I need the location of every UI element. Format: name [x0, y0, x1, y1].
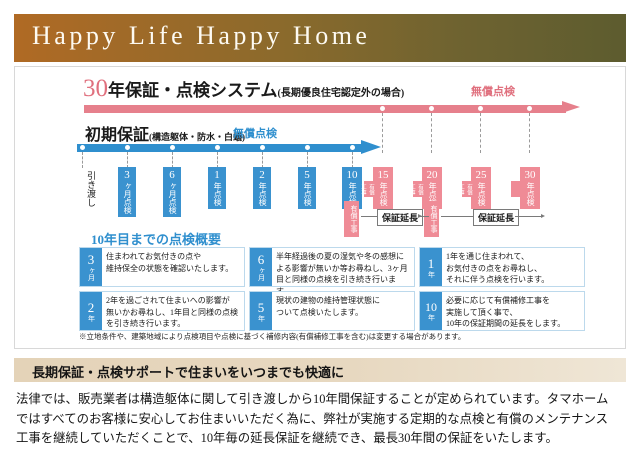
summary-cell-10y: 10 年 必要に応じて有償補修工事を 実施して頂く事で、 10年の保証期間の延長…: [419, 291, 585, 331]
paid-work-marker-30: [511, 181, 522, 197]
summary-text-3m: 住まわれてお気付きの点や 維持保全の状態を確認いたします。: [102, 248, 244, 286]
milestone-unit: 年点検: [477, 182, 485, 206]
footer-banner: 長期保証・点検サポートで住まいをいつまでも快適に: [14, 358, 626, 382]
summary-key-5y: 5 年: [250, 292, 272, 330]
tick-3m: [127, 152, 128, 168]
milestone-tag-5y[interactable]: 5 年点検: [298, 167, 316, 209]
summary-text-1y: 1年を通じ住まわれて、 お気付きの点をお尋ねし、 それに伴う点検を行います。: [442, 248, 584, 286]
footer-line-2: ではすべてのお客様に安心してお住まいいただく為に、弊社が実施する定期的な点検と有…: [16, 410, 626, 430]
summary-key-unit: ヶ月: [88, 267, 95, 281]
milestone-tag-6m[interactable]: 6 ヶ月点検: [163, 167, 181, 217]
summary-key-num: 2: [88, 301, 95, 314]
handover-label: 引き渡し: [85, 171, 98, 215]
system-title-number: 30: [83, 75, 108, 102]
paid-work-marker-20: 有償工事: [413, 181, 424, 197]
tick-30: [529, 113, 530, 153]
tick-handover: [82, 152, 83, 168]
footer-body: 法律では、販売業者は構造躯体に関して引き渡しから10年間保証することが定められて…: [16, 390, 626, 449]
footer-line-3: 工事を継続していただくことで、10年毎の延長保証を継続でき、最長30年間の保証を…: [16, 429, 626, 449]
summary-cell-6m: 6 ヶ月 半年経過後の夏の湿気や冬の感想に よる影響が無いか等お尋ねし、3ヶ月 …: [249, 247, 415, 287]
summary-text-6m: 半年経過後の夏の湿気や冬の感想に よる影響が無いか等お尋ねし、3ヶ月 目と同様の…: [272, 248, 414, 286]
milestone-tag-25y[interactable]: 25 年点検: [471, 167, 491, 209]
footer-banner-title: 長期保証・点検サポートで住まいをいつまでも快適に: [32, 362, 344, 381]
milestone-unit: 年点検: [303, 182, 311, 206]
pink-node-30: [527, 106, 532, 111]
summary-key-unit: 年: [428, 271, 435, 278]
summary-key-1y: 1 年: [420, 248, 442, 286]
milestone-unit: 年点検: [258, 182, 266, 206]
paid-work-marker-15: 有償工事: [364, 181, 375, 197]
system-title: 30年保証・点検システム(長期優良住宅認定外の場合): [83, 75, 404, 103]
milestone-num: 6: [163, 170, 181, 181]
milestone-tag-3m[interactable]: 3 ヶ月点検: [118, 167, 136, 217]
summary-key-num: 10: [425, 301, 437, 313]
milestone-tag-30y[interactable]: 30 年点検: [520, 167, 540, 209]
pink-track-label: 無償点検: [471, 83, 515, 99]
header-banner: Happy Life Happy Home: [14, 14, 626, 62]
pink-arrow-head-icon: [562, 101, 580, 113]
ext-line-left-1: [361, 216, 377, 217]
milestone-num: 1: [208, 170, 226, 181]
system-title-main: 年保証・点検システム: [108, 81, 278, 100]
summary-cell-5y: 5 年 現状の建物の維持管理状態に ついて点検いたします。: [249, 291, 415, 331]
pink-timeline-arrow: [84, 103, 584, 115]
blue-node-1y: [215, 145, 220, 150]
milestone-unit: 年点検: [213, 182, 221, 206]
summary-cell-2y: 2 年 2年を過ごされて住まいへの影響が 無いかお尋ねし、1年目と同様の点検 を…: [79, 291, 245, 331]
summary-key-num: 5: [258, 301, 265, 314]
summary-key-3m: 3 ヶ月: [80, 248, 102, 286]
warranty-extension-box-1[interactable]: 保証延長: [377, 209, 423, 226]
blue-timeline-bar: [77, 144, 365, 152]
summary-cell-1y: 1 年 1年を通じ住まわれて、 お気付きの点をお尋ねし、 それに伴う点検を行いま…: [419, 247, 585, 287]
milestone-num: 25: [471, 170, 491, 181]
milestone-unit: ヶ月点検: [168, 182, 176, 214]
tick-1y: [217, 152, 218, 168]
milestone-num: 30: [520, 170, 540, 181]
summary-key-10y: 10 年: [420, 292, 442, 330]
milestone-unit: ヶ月点検: [123, 182, 131, 214]
summary-key-unit: ヶ月: [258, 267, 265, 281]
ext-line-right-2: [515, 216, 543, 217]
milestone-num: 3: [118, 170, 136, 181]
summary-key-unit: 年: [258, 315, 265, 322]
blue-track-label: 無償点検: [233, 125, 277, 141]
diagram-note: ※立地条件や、建築地域により点検項目や点検に基づく補修内容(有償補修工事を含む)…: [79, 331, 465, 342]
tick-20: [431, 113, 432, 153]
summary-key-2y: 2 年: [80, 292, 102, 330]
summary-key-num: 1: [428, 257, 435, 270]
paid-work-block-20y[interactable]: 有償工事: [424, 201, 439, 237]
warranty-extension-box-2[interactable]: 保証延長: [473, 209, 519, 226]
summary-key-6m: 6 ヶ月: [250, 248, 272, 286]
tick-2y: [262, 152, 263, 168]
tick-10y: [352, 152, 353, 168]
blue-node-2y: [260, 145, 265, 150]
footer-line-1: 法律では、販売業者は構造躯体に関して引き渡しから10年間保証することが定められて…: [16, 390, 626, 410]
milestone-num: 10: [342, 170, 362, 181]
summary-text-2y: 2年を過ごされて住まいへの影響が 無いかお尋ねし、1年目と同様の点検 を引き続き…: [102, 292, 244, 330]
summary-key-unit: 年: [88, 315, 95, 322]
milestone-tag-1y[interactable]: 1 年点検: [208, 167, 226, 209]
milestone-unit: 年点検: [379, 182, 387, 206]
pink-node-20: [429, 106, 434, 111]
pink-node-25: [478, 106, 483, 111]
blue-node-10y: [350, 145, 355, 150]
summary-key-num: 6: [258, 253, 265, 266]
summary-key-unit: 年: [428, 314, 435, 321]
summary-title: 10年目までの点検概要: [91, 229, 221, 248]
milestone-tag-2y[interactable]: 2 年点検: [253, 167, 271, 209]
summary-text-5y: 現状の建物の維持管理状態に ついて点検いたします。: [272, 292, 414, 330]
milestone-unit: 年点検: [526, 182, 534, 206]
ext-line-left-2: [441, 216, 473, 217]
pink-node-15: [380, 106, 385, 111]
milestone-num: 2: [253, 170, 271, 181]
milestone-num: 15: [373, 170, 393, 181]
summary-cell-3m: 3 ヶ月 住まわれてお気付きの点や 維持保全の状態を確認いたします。: [79, 247, 245, 287]
ext-arrow-1-icon: [418, 214, 422, 218]
paid-work-block-10y[interactable]: 有償工事: [344, 201, 359, 237]
ext-arrow-2-icon: [541, 214, 545, 218]
warranty-diagram-panel: 30年保証・点検システム(長期優良住宅認定外の場合) 無償点検 初期保証(構造躯…: [14, 66, 626, 349]
system-title-sub: (長期優良住宅認定外の場合): [278, 88, 405, 99]
paid-work-marker-25: 有償工事: [462, 181, 473, 197]
summary-key-num: 3: [88, 253, 95, 266]
summary-text-10y: 必要に応じて有償補修工事を 実施して頂く事で、 10年の保証期間の延長をします。: [442, 292, 584, 330]
blue-node-handover: [80, 145, 85, 150]
blue-node-6m: [170, 145, 175, 150]
page-title: Happy Life Happy Home: [32, 21, 370, 51]
milestone-tag-15y[interactable]: 15 年点検: [373, 167, 393, 209]
blue-arrow-head-icon: [361, 140, 381, 154]
tick-25: [480, 113, 481, 153]
tick-6m: [172, 152, 173, 168]
pink-timeline-bar: [84, 105, 566, 113]
milestone-num: 20: [422, 170, 442, 181]
blue-node-3m: [125, 145, 130, 150]
tick-5y: [307, 152, 308, 168]
blue-node-5y: [305, 145, 310, 150]
milestone-num: 5: [298, 170, 316, 181]
